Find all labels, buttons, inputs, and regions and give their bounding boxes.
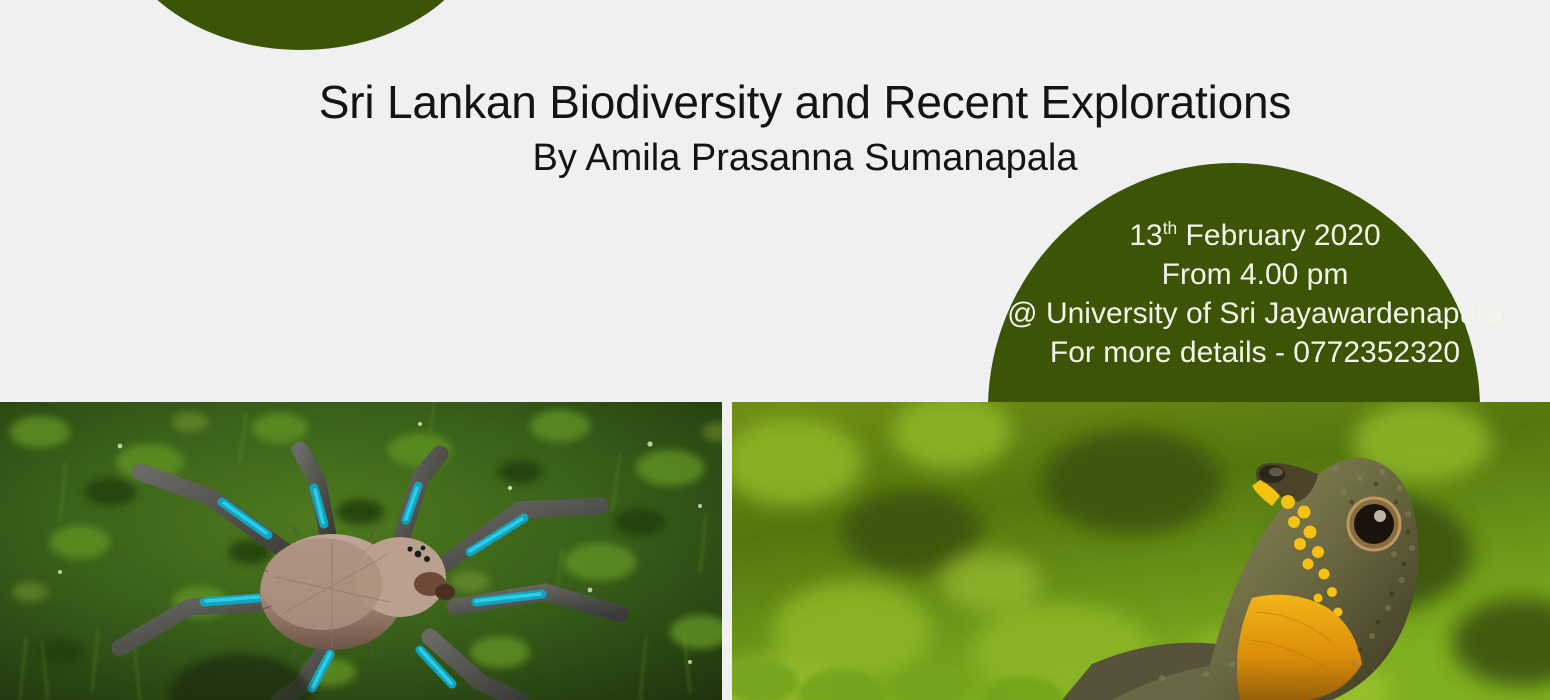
event-date-month-year: February 2020: [1177, 219, 1380, 252]
spider-photo: [0, 402, 722, 700]
page-title: Sri Lankan Biodiversity and Recent Explo…: [0, 78, 1550, 128]
event-time: From 4.00 pm: [960, 255, 1550, 294]
headline-block: Sri Lankan Biodiversity and Recent Explo…: [0, 78, 1550, 179]
event-poster: Sri Lankan Biodiversity and Recent Explo…: [0, 0, 1550, 700]
event-date-suffix: th: [1163, 218, 1178, 238]
top-green-circle: [112, 0, 490, 50]
event-contact: For more details - 0772352320: [960, 333, 1550, 372]
speaker-byline: By Amila Prasanna Sumanapala: [0, 138, 1550, 180]
event-date-day: 13: [1129, 219, 1162, 252]
event-date: 13th February 2020: [960, 216, 1550, 255]
photo-strip: [0, 402, 1550, 700]
event-venue: @ University of Sri Jayawardenapura: [960, 294, 1550, 333]
event-details: 13th February 2020 From 4.00 pm @ Univer…: [960, 216, 1550, 372]
lizard-photo: [732, 402, 1550, 700]
